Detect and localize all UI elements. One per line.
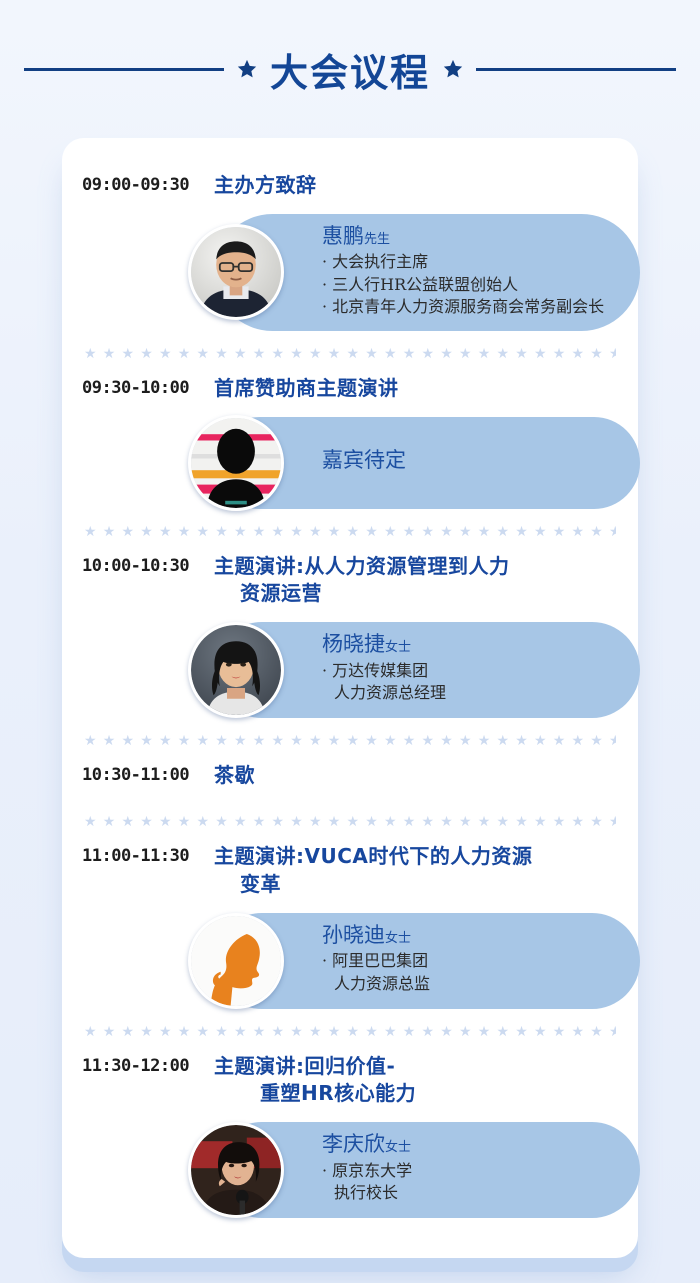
star-divider: ★★★★★★★★★★★★★★★★★★★★★★★★★★★★★★★★★★★★★★★★… (84, 347, 616, 361)
agenda-item-head: 10:30-11:00茶歇 (62, 762, 638, 790)
agenda-title-line1: 主办方致辞 (214, 173, 317, 197)
agenda-title-line2: 变革 (214, 871, 532, 899)
speaker-name: 孙晓迪女士 (322, 923, 610, 948)
speaker-detail-line: · 阿里巴巴集团 (322, 950, 610, 973)
speaker-detail-line: · 大会执行主席 (322, 251, 610, 274)
page-title: 大会议程 (270, 42, 430, 97)
star-divider: ★★★★★★★★★★★★★★★★★★★★★★★★★★★★★★★★★★★★★★★★… (84, 525, 616, 539)
speaker-detail-line: 人力资源总监 (322, 973, 610, 996)
agenda-title-line1: 茶歇 (214, 763, 255, 787)
speaker-card-wrap: 孙晓迪女士· 阿里巴巴集团人力资源总监 (62, 913, 638, 1009)
speaker-card[interactable]: 嘉宾待定 (214, 417, 640, 509)
speaker-name: 李庆欣女士 (322, 1132, 610, 1157)
speaker-name: 惠鹏先生 (322, 224, 610, 249)
agenda-time: 09:30-10:00 (82, 375, 214, 398)
avatar (188, 1122, 284, 1218)
header-rule-left (24, 68, 224, 71)
agenda-title: 首席赞助商主题演讲 (214, 375, 399, 403)
agenda-item: 09:00-09:30主办方致辞惠鹏先生· 大会执行主席· 三人行HR公益联盟创… (62, 172, 638, 331)
speaker-card-wrap: 杨晓捷女士· 万达传媒集团人力资源总经理 (62, 622, 638, 718)
speaker-card-wrap: 李庆欣女士· 原京东大学执行校长 (62, 1122, 638, 1218)
speaker-name-text: 杨晓捷 (322, 632, 385, 656)
speaker-honorific: 女士 (385, 931, 411, 946)
speaker-name-text: 嘉宾待定 (322, 448, 406, 472)
page-header: 大会议程 (0, 0, 700, 138)
agenda-title: 茶歇 (214, 762, 255, 790)
speaker-card[interactable]: 惠鹏先生· 大会执行主席· 三人行HR公益联盟创始人· 北京青年人力资源服务商会… (214, 214, 640, 331)
agenda-item: 11:30-12:00主题演讲:回归价值-重塑HR核心能力李庆欣女士· 原京东大… (62, 1053, 638, 1218)
speaker-card[interactable]: 孙晓迪女士· 阿里巴巴集团人力资源总监 (214, 913, 640, 1009)
agenda-time: 11:30-12:00 (82, 1053, 214, 1076)
avatar (188, 913, 284, 1009)
agenda-card: 09:00-09:30主办方致辞惠鹏先生· 大会执行主席· 三人行HR公益联盟创… (62, 138, 638, 1258)
avatar (188, 622, 284, 718)
speaker-honorific: 女士 (385, 640, 411, 655)
speaker-name-text: 惠鹏 (322, 224, 364, 248)
speaker-name: 嘉宾待定 (322, 448, 610, 473)
agenda-title-line1: 主题演讲:从人力资源管理到人力 (214, 554, 510, 578)
star-icon-right (442, 58, 464, 80)
header-rule-right (476, 68, 676, 71)
speaker-card-wrap: 嘉宾待定 (62, 417, 638, 509)
star-divider: ★★★★★★★★★★★★★★★★★★★★★★★★★★★★★★★★★★★★★★★★… (84, 815, 616, 829)
speaker-card[interactable]: 杨晓捷女士· 万达传媒集团人力资源总经理 (214, 622, 640, 718)
agenda-item-head: 09:00-09:30主办方致辞 (62, 172, 638, 200)
agenda-title-line1: 主题演讲:回归价值- (214, 1054, 395, 1078)
agenda-item: 09:30-10:00首席赞助商主题演讲嘉宾待定 (62, 375, 638, 509)
speaker-name: 杨晓捷女士 (322, 632, 610, 657)
agenda-item-head: 09:30-10:00首席赞助商主题演讲 (62, 375, 638, 403)
avatar (188, 415, 284, 511)
agenda-item-head: 11:30-12:00主题演讲:回归价值-重塑HR核心能力 (62, 1053, 638, 1108)
agenda-item: 10:30-11:00茶歇 (62, 762, 638, 800)
speaker-detail-line: · 北京青年人力资源服务商会常务副会长 (322, 296, 610, 319)
agenda-time: 09:00-09:30 (82, 172, 214, 195)
star-divider: ★★★★★★★★★★★★★★★★★★★★★★★★★★★★★★★★★★★★★★★★… (84, 734, 616, 748)
agenda-item-head: 11:00-11:30主题演讲:VUCA时代下的人力资源变革 (62, 843, 638, 898)
speaker-honorific: 先生 (364, 232, 390, 247)
speaker-honorific: 女士 (385, 1140, 411, 1155)
speaker-name-text: 李庆欣 (322, 1132, 385, 1156)
agenda-list: 09:00-09:30主办方致辞惠鹏先生· 大会执行主席· 三人行HR公益联盟创… (62, 138, 638, 1218)
speaker-name-text: 孙晓迪 (322, 923, 385, 947)
agenda-title: 主题演讲:从人力资源管理到人力资源运营 (214, 553, 510, 608)
star-divider: ★★★★★★★★★★★★★★★★★★★★★★★★★★★★★★★★★★★★★★★★… (84, 1025, 616, 1039)
star-icon-left (236, 58, 258, 80)
agenda-title: 主办方致辞 (214, 172, 317, 200)
speaker-detail-line: · 原京东大学 (322, 1160, 610, 1183)
agenda-item-head: 10:00-10:30主题演讲:从人力资源管理到人力资源运营 (62, 553, 638, 608)
speaker-detail-line: · 万达传媒集团 (322, 660, 610, 683)
agenda-title-line2: 重塑HR核心能力 (214, 1080, 416, 1108)
speaker-detail-line: 人力资源总经理 (322, 682, 610, 705)
agenda-time: 10:30-11:00 (82, 762, 214, 785)
agenda-title-line2: 资源运营 (214, 580, 510, 608)
speaker-detail-line: · 三人行HR公益联盟创始人 (322, 274, 610, 297)
agenda-spacer (62, 789, 638, 799)
agenda-title-line1: 首席赞助商主题演讲 (214, 376, 399, 400)
agenda-time: 10:00-10:30 (82, 553, 214, 576)
agenda-title: 主题演讲:回归价值-重塑HR核心能力 (214, 1053, 416, 1108)
speaker-card[interactable]: 李庆欣女士· 原京东大学执行校长 (214, 1122, 640, 1218)
agenda-item: 11:00-11:30主题演讲:VUCA时代下的人力资源变革孙晓迪女士· 阿里巴… (62, 843, 638, 1008)
agenda-item: 10:00-10:30主题演讲:从人力资源管理到人力资源运营杨晓捷女士· 万达传… (62, 553, 638, 718)
agenda-time: 11:00-11:30 (82, 843, 214, 866)
agenda-title-line1: 主题演讲:VUCA时代下的人力资源 (214, 844, 532, 868)
speaker-detail-line: 执行校长 (322, 1182, 610, 1205)
avatar (188, 224, 284, 320)
speaker-card-wrap: 惠鹏先生· 大会执行主席· 三人行HR公益联盟创始人· 北京青年人力资源服务商会… (62, 214, 638, 331)
agenda-title: 主题演讲:VUCA时代下的人力资源变革 (214, 843, 532, 898)
